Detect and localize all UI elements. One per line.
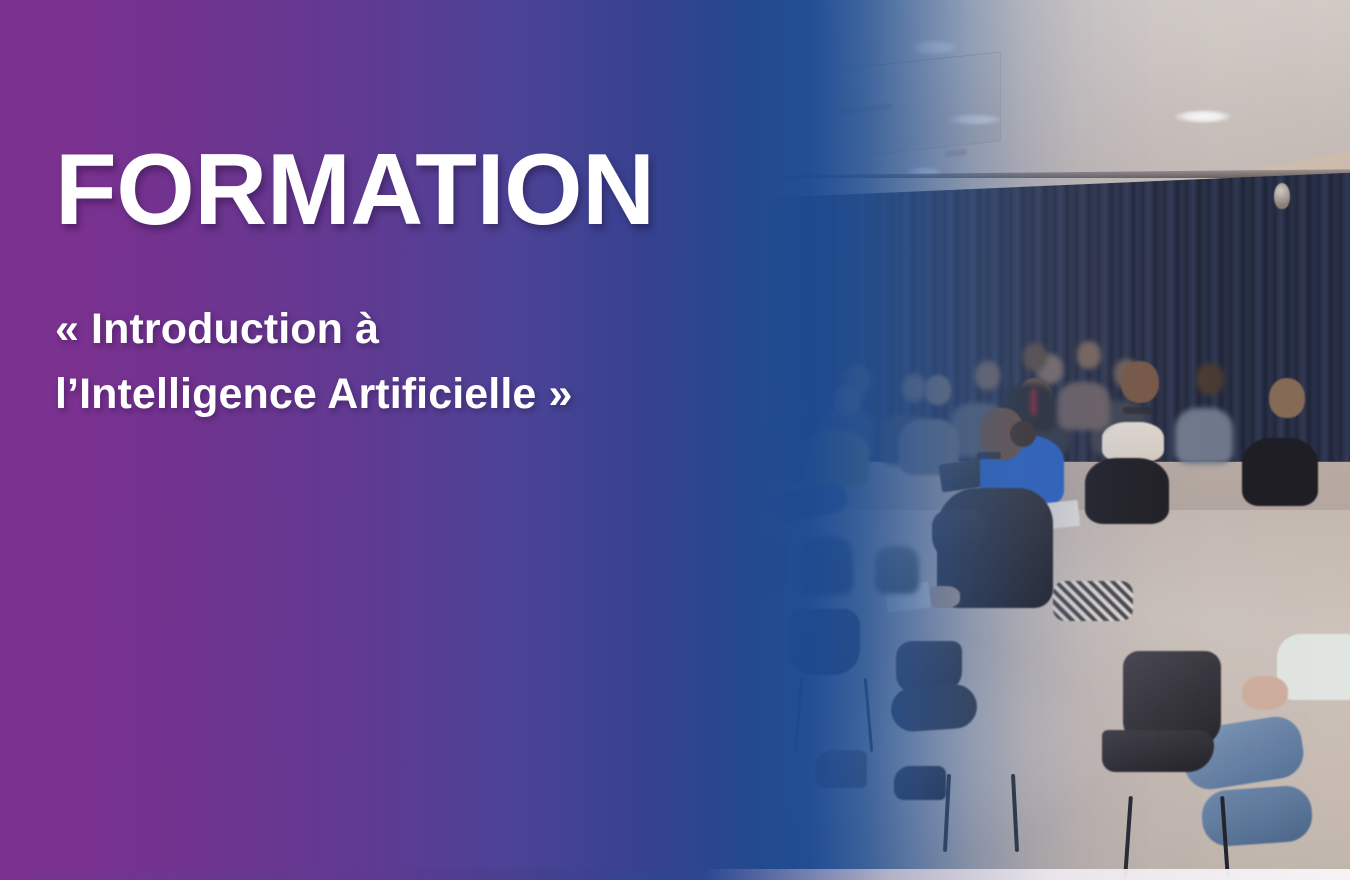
formation-banner: FORMATION « Introduction à l’Intelligenc…	[0, 0, 1350, 880]
banner-text-block: FORMATION « Introduction à l’Intelligenc…	[55, 140, 655, 428]
page-title: FORMATION	[55, 140, 655, 241]
gradient-tint	[0, 0, 1350, 880]
bottom-accent-strip	[0, 869, 1350, 880]
subtitle-line-2: l’Intelligence Artificielle »	[55, 362, 655, 427]
subtitle-line-1: « Introduction à	[55, 297, 655, 362]
banner-subtitle: « Introduction à l’Intelligence Artifici…	[55, 297, 655, 428]
